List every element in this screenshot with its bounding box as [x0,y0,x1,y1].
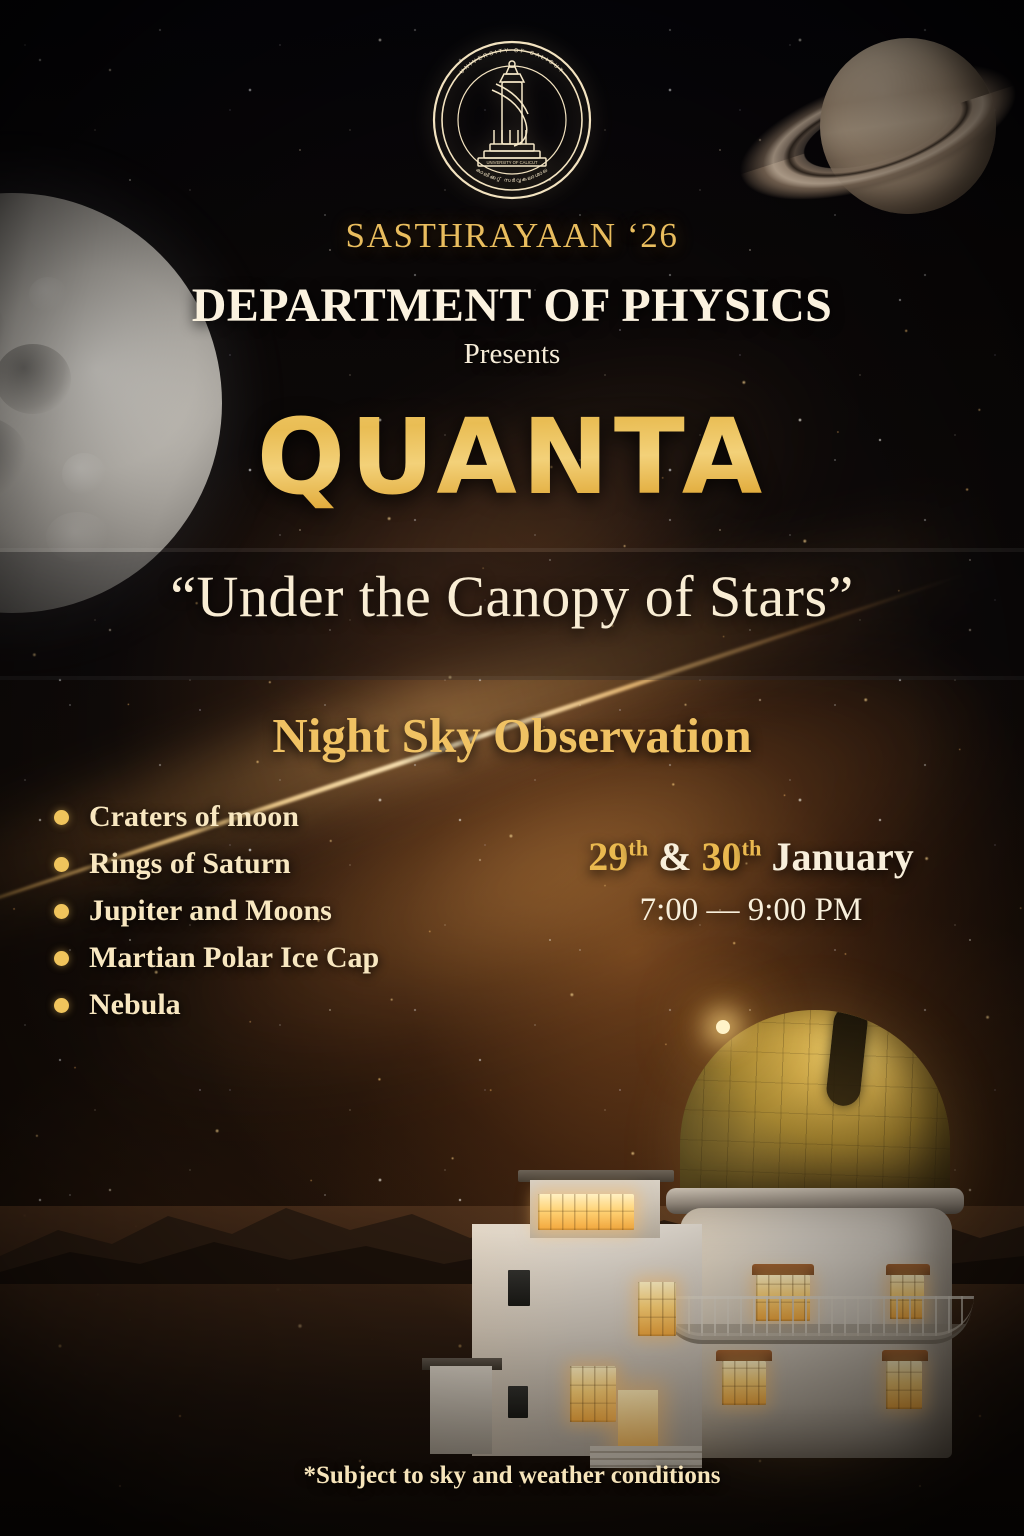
footnote: *Subject to sky and weather conditions [0,1462,1024,1490]
bullet-icon [54,951,69,966]
poster-content: UNIVERSITY OF CALICUT കാലിക്കറ്റ് സർവ്വക… [0,0,1024,1536]
bullet-icon [54,857,69,872]
svg-text:UNIVERSITY OF CALICUT: UNIVERSITY OF CALICUT [486,160,538,165]
day-two: 30 [702,834,742,879]
event-date: 29th & 30th January [566,833,936,880]
event-month: January [771,834,913,879]
schedule-block: 29th & 30th January 7:00 — 9:00 PM [566,833,936,929]
list-item-label: Nebula [89,988,181,1022]
observation-list: Craters of moon Rings of Saturn Jupiter … [54,800,379,1035]
presents-label: Presents [0,338,1024,371]
event-time: 7:00 — 9:00 PM [566,892,936,929]
fest-name: SASTHRAYAAN ‘26 [0,216,1024,256]
list-item-label: Jupiter and Moons [89,894,332,928]
day-two-suffix: th [742,836,762,861]
day-one-suffix: th [628,836,648,861]
department-name: DEPARTMENT OF PHYSICS [0,278,1024,333]
day-one: 29 [588,834,628,879]
event-title: QUANTA [0,396,1024,518]
tagline: “Under the Canopy of Stars” [0,563,1024,630]
bullet-icon [54,810,69,825]
list-item: Nebula [54,988,379,1022]
list-item: Craters of moon [54,800,379,834]
poster-root: UNIVERSITY OF CALICUT കാലിക്കറ്റ് സർവ്വക… [0,0,1024,1536]
svg-text:കാലിക്കറ്റ് സർവ്വകലാശാല: കാലിക്കറ്റ് സർവ്വകലാശാല [475,167,550,184]
list-item: Jupiter and Moons [54,894,379,928]
section-heading: Night Sky Observation [0,707,1024,764]
list-item-label: Rings of Saturn [89,847,291,881]
list-item: Martian Polar Ice Cap [54,941,379,975]
bullet-icon [54,998,69,1013]
list-item: Rings of Saturn [54,847,379,881]
date-conjunction: & [658,834,691,879]
bullet-icon [54,904,69,919]
university-seal-icon: UNIVERSITY OF CALICUT കാലിക്കറ്റ് സർവ്വക… [426,34,598,206]
list-item-label: Craters of moon [89,800,299,834]
list-item-label: Martian Polar Ice Cap [89,941,379,975]
